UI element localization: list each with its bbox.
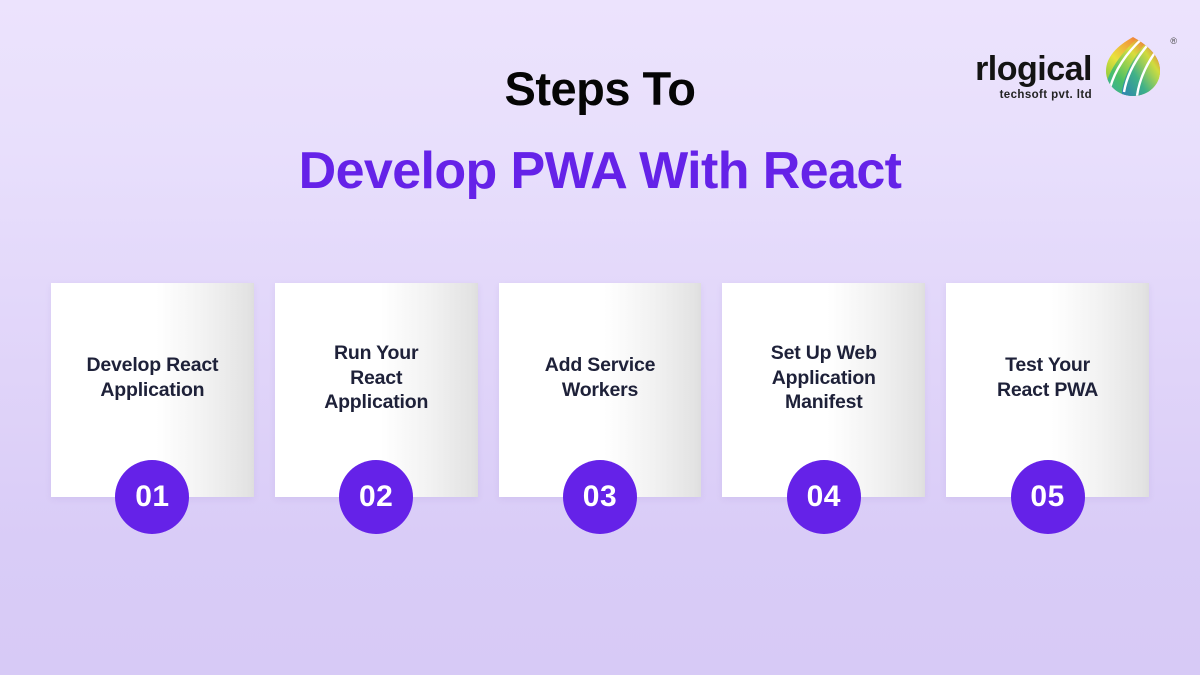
step-card: Test Your React PWA 05 — [946, 283, 1149, 497]
step-title: Set Up Web Application Manifest — [761, 341, 887, 416]
title-line-primary: Steps To — [0, 64, 1200, 114]
page-title: Steps To Develop PWA With React — [0, 64, 1200, 199]
step-card: Add Service Workers 03 — [499, 283, 702, 497]
step-card: Set Up Web Application Manifest 04 — [722, 283, 925, 497]
step-title: Run Your React Application — [314, 341, 438, 416]
step-title: Add Service Workers — [535, 353, 666, 403]
step-card: Develop React Application 01 — [51, 283, 254, 497]
step-title: Develop React Application — [77, 353, 229, 403]
step-number-badge: 03 — [563, 460, 637, 534]
step-title: Test Your React PWA — [987, 353, 1108, 403]
title-line-secondary: Develop PWA With React — [0, 144, 1200, 199]
step-number-badge: 01 — [115, 460, 189, 534]
infographic-canvas: rlogical techsoft pvt. ltd — [0, 0, 1200, 675]
step-card: Run Your React Application 02 — [275, 283, 478, 497]
step-number-badge: 04 — [787, 460, 861, 534]
step-number-badge: 05 — [1011, 460, 1085, 534]
step-number-badge: 02 — [339, 460, 413, 534]
registered-trademark-icon: ® — [1170, 36, 1177, 46]
steps-row: Develop React Application 01 Run Your Re… — [51, 283, 1149, 497]
